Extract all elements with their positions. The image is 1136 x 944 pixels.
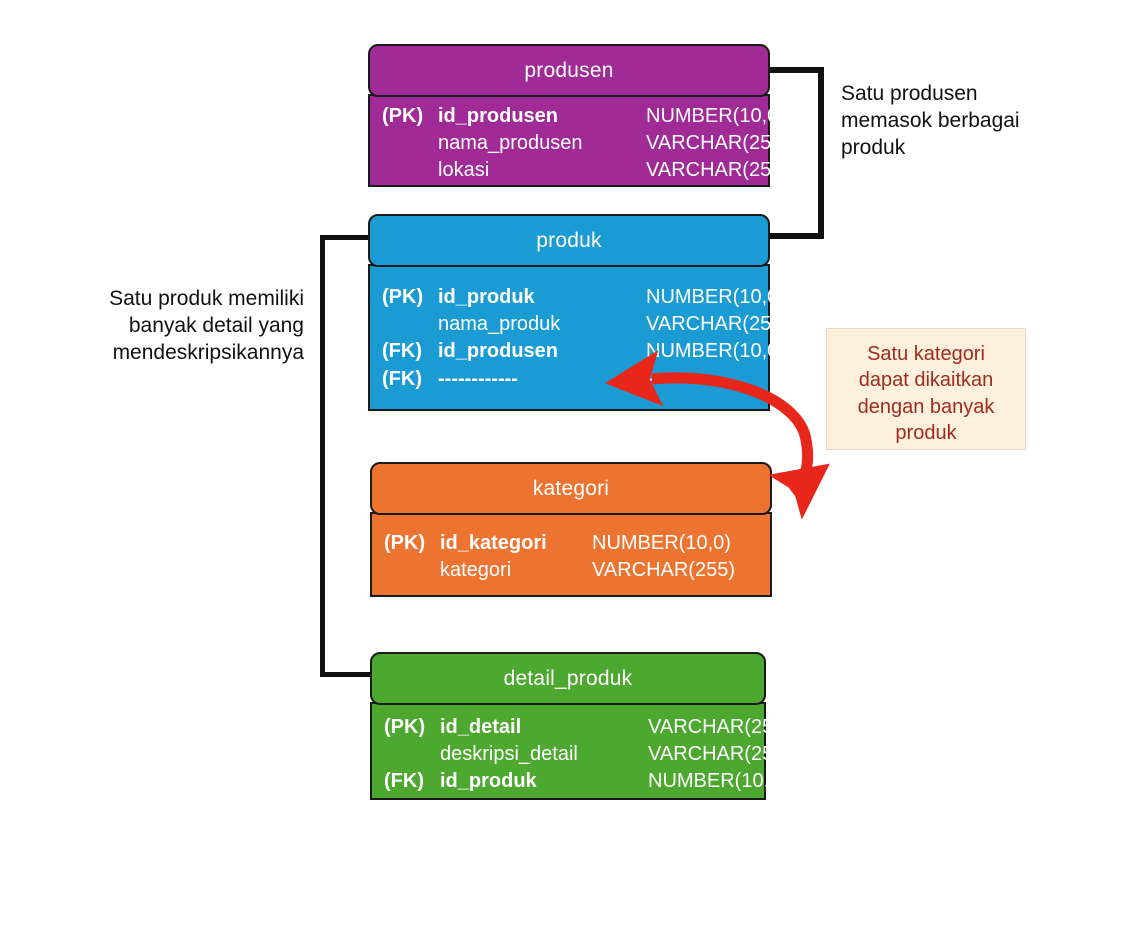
entity-produk[interactable]: produk (PK) id_produk NUMBER(10,0) nama_…: [368, 214, 770, 411]
entity-produsen-title: produsen: [524, 59, 613, 83]
column-name: id_detail: [440, 714, 648, 741]
entity-kategori-body: (PK) id_kategori NUMBER(10,0) kategori V…: [370, 512, 772, 597]
entity-produk-body: (PK) id_produk NUMBER(10,0) nama_produk …: [368, 264, 770, 411]
entity-produsen-row-1: nama_produsen VARCHAR(255): [370, 130, 768, 157]
entity-produsen-header[interactable]: produsen: [368, 44, 770, 97]
annotation-kategori-produk-callout: Satu kategori dapat dikaitkan dengan ban…: [826, 328, 1026, 450]
connector-produsen-produk-horizontal-top: [766, 67, 824, 73]
entity-kategori-header[interactable]: kategori: [370, 462, 772, 515]
pk-badge: (PK): [370, 103, 438, 130]
column-name: kategori: [440, 557, 592, 584]
column-type: NUMBER(10,0): [646, 284, 826, 311]
column-name: id_produsen: [438, 338, 646, 365]
column-name: lokasi: [438, 157, 646, 184]
column-type: NUMBER(10,0): [646, 103, 826, 130]
entity-produk-row-0: (PK) id_produk NUMBER(10,0): [370, 284, 768, 311]
column-type: VARCHAR(255): [648, 714, 828, 741]
column-type: VARCHAR(255): [592, 557, 782, 584]
column-name: nama_produsen: [438, 130, 646, 157]
column-name: id_produsen: [438, 103, 646, 130]
fk-badge: (FK): [370, 366, 438, 393]
entity-detail-produk-header[interactable]: detail_produk: [370, 652, 766, 705]
column-type: VARCHAR(255): [648, 741, 828, 768]
column-type: NUMBER(10,0): [648, 768, 828, 795]
entity-detail-produk-row-2: (FK) id_produk NUMBER(10,0): [372, 768, 764, 795]
column-name: id_produk: [440, 768, 648, 795]
column-name: nama_produk: [438, 311, 646, 338]
pk-badge: (PK): [372, 714, 440, 741]
connector-produk-detail-vertical: [320, 235, 325, 677]
column-name: id_kategori: [440, 530, 592, 557]
pk-badge: (PK): [372, 530, 440, 557]
entity-produk-row-1: nama_produk VARCHAR(255): [370, 311, 768, 338]
entity-produk-row-2: (FK) id_produsen NUMBER(10,0): [370, 338, 768, 365]
entity-kategori-row-0: (PK) id_kategori NUMBER(10,0): [372, 530, 770, 557]
fk-badge: (FK): [372, 768, 440, 795]
column-type-placeholder: -----: [646, 366, 826, 393]
annotation-produk-detail: Satu produk memiliki banyak detail yang …: [60, 286, 304, 367]
column-name-placeholder: ------------: [438, 366, 646, 393]
column-name: deskripsi_detail: [440, 741, 648, 768]
column-type: VARCHAR(255): [646, 157, 826, 184]
column-name: id_produk: [438, 284, 646, 311]
annotation-produsen-produk: Satu produsen memasok berbagai produk: [841, 81, 1071, 162]
entity-kategori-title: kategori: [533, 477, 609, 501]
column-type: VARCHAR(255): [646, 130, 826, 157]
connector-produk-detail-horizontal-top: [320, 235, 374, 240]
diagram-canvas: produsen (PK) id_produsen NUMBER(10,0) n…: [0, 0, 1136, 944]
entity-produsen-row-0: (PK) id_produsen NUMBER(10,0): [370, 103, 768, 130]
pk-badge: (PK): [370, 284, 438, 311]
entity-produsen-body: (PK) id_produsen NUMBER(10,0) nama_produ…: [368, 94, 770, 187]
entity-detail-produk-title: detail_produk: [504, 667, 633, 691]
fk-badge: (FK): [370, 338, 438, 365]
connector-produsen-produk-horizontal-bottom: [766, 233, 824, 239]
entity-produsen[interactable]: produsen (PK) id_produsen NUMBER(10,0) n…: [368, 44, 770, 187]
entity-produk-row-3-placeholder: (FK) ------------ -----: [370, 366, 768, 393]
entity-kategori[interactable]: kategori (PK) id_kategori NUMBER(10,0) k…: [370, 462, 772, 597]
column-type: VARCHAR(255): [646, 311, 826, 338]
entity-kategori-row-1: kategori VARCHAR(255): [372, 557, 770, 584]
entity-produsen-row-2: lokasi VARCHAR(255): [370, 157, 768, 184]
entity-detail-produk-row-1: deskripsi_detail VARCHAR(255): [372, 741, 764, 768]
connector-produk-detail-horizontal-bottom: [320, 672, 374, 677]
entity-detail-produk-body: (PK) id_detail VARCHAR(255) deskripsi_de…: [370, 702, 766, 800]
entity-produk-header[interactable]: produk: [368, 214, 770, 267]
column-type: NUMBER(10,0): [592, 530, 782, 557]
entity-produk-title: produk: [536, 229, 601, 253]
entity-detail-produk-row-0: (PK) id_detail VARCHAR(255): [372, 714, 764, 741]
column-type: NUMBER(10,0): [646, 338, 826, 365]
entity-detail-produk[interactable]: detail_produk (PK) id_detail VARCHAR(255…: [370, 652, 766, 800]
